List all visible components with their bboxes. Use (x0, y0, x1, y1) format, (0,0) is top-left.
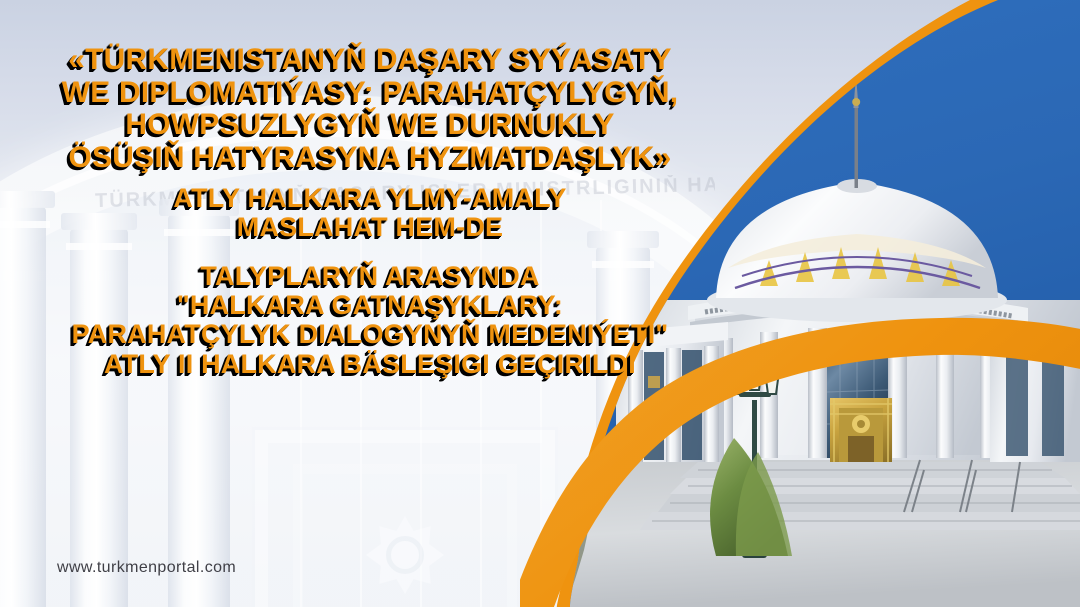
headline-line: PARAHATÇYLYK DIALOGYNYŇ MEDENIÝETI" (0, 320, 740, 349)
headline-block-event: ATLY HALKARA YLMY-AMALY MASLAHAT HEM-DE (0, 184, 740, 243)
headline-line: ATLY HALKARA YLMY-AMALY (0, 184, 740, 213)
headline: «TÜRKMENISTANYŇ DAŞARY SYÝASATY WE DIPLO… (0, 44, 740, 379)
headline-line: MASLAHAT HEM-DE (0, 213, 740, 242)
headline-line: «TÜRKMENISTANYŇ DAŞARY SYÝASATY (0, 44, 740, 77)
headline-line: WE DIPLOMATIÝASY: PARAHATÇYLYGYŇ, (0, 77, 740, 110)
headline-line: HOWPSUZLYGYŇ WE DURNUKLY (0, 109, 740, 142)
headline-line: ÖSÜŞIŇ HATYRASYNA HYZMATDAŞLYK» (0, 142, 740, 175)
entrance-steps (640, 460, 1080, 530)
headline-line: TALYPLARYŇ ARASYNDA (0, 262, 740, 291)
news-banner: TÜRKMENISTANYŇ DAŞARY IŞLER MINISTRLIGIN… (0, 0, 1080, 607)
headline-block-contest: TALYPLARYŇ ARASYNDA "HALKARA GATNAŞYKLAR… (0, 262, 740, 380)
site-watermark: www.turkmenportal.com (57, 559, 236, 577)
headline-block-title: «TÜRKMENISTANYŇ DAŞARY SYÝASATY WE DIPLO… (0, 44, 740, 175)
headline-line: ATLY II HALKARA BÄSLEŞIGI GEÇIRILDI (0, 350, 740, 379)
headline-line: "HALKARA GATNAŞYKLARY: (0, 291, 740, 320)
